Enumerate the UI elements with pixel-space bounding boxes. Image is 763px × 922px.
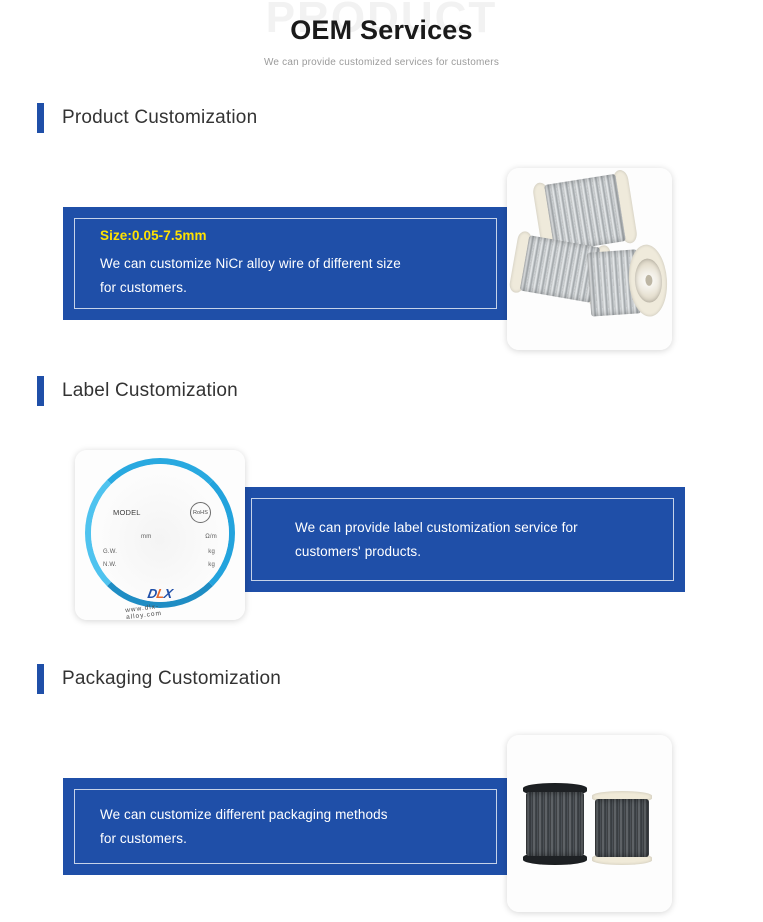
label-field-mm: mm [141, 534, 151, 540]
section-heading-packaging-customization: Packaging Customization [37, 664, 281, 694]
wire-spool-white-icon [592, 791, 652, 865]
round-product-label-photo: MODEL RoHS mm Ω/m G.W. N.W. kg kg DLX ww… [75, 450, 245, 620]
photo-stage [507, 168, 672, 350]
nicr-wire-spools-photo [507, 168, 672, 350]
panel-text-line-1: We can customize different packaging met… [100, 803, 471, 827]
label-field-website: www.dlx-alloy.com [125, 599, 195, 620]
wire-spool-black-icon [523, 783, 587, 865]
label-field-net-weight: N.W. [103, 562, 117, 568]
info-panel-packaging-customization: We can customize different packaging met… [63, 778, 508, 875]
info-panel-label-customization: We can provide label customization servi… [240, 487, 685, 592]
page-subtitle: We can provide customized services for c… [0, 57, 763, 68]
panel-text-line-2: for customers. [100, 827, 471, 851]
section-heading-label-customization: Label Customization [37, 376, 238, 406]
section-title: Packaging Customization [62, 668, 281, 690]
section-title: Product Customization [62, 107, 257, 129]
label-face: MODEL RoHS mm Ω/m G.W. N.W. kg kg DLX ww… [91, 464, 229, 602]
panel-text-line-1: We can provide label customization servi… [295, 516, 648, 540]
label-field-ohm: Ω/m [205, 534, 217, 540]
section-heading-product-customization: Product Customization [37, 103, 257, 133]
info-panel-inner: Size:0.05-7.5mm We can customize NiCr al… [74, 218, 497, 309]
photo-stage: MODEL RoHS mm Ω/m G.W. N.W. kg kg DLX ww… [75, 450, 245, 620]
label-field-model: MODEL [113, 508, 141, 517]
label-field-kg-2: kg [208, 562, 215, 568]
label-field-kg-1: kg [208, 549, 215, 555]
page-title: OEM Services [0, 14, 763, 46]
section-title: Label Customization [62, 380, 238, 402]
dlx-brand-logo: DLX [146, 586, 173, 601]
info-panel-inner: We can provide label customization servi… [251, 498, 674, 581]
packaging-spools-photo [507, 735, 672, 912]
panel-text-line-2: customers' products. [295, 540, 648, 564]
wire-spool-icon [587, 243, 670, 320]
panel-size-label: Size:0.05-7.5mm [100, 228, 471, 243]
section-accent-bar-icon [37, 376, 44, 406]
page-header: PRODUCT OEM Services We can provide cust… [0, 0, 763, 86]
photo-stage [507, 735, 672, 912]
section-accent-bar-icon [37, 664, 44, 694]
info-panel-inner: We can customize different packaging met… [74, 789, 497, 864]
panel-text-line-1: We can customize NiCr alloy wire of diff… [100, 252, 471, 276]
round-label-icon: MODEL RoHS mm Ω/m G.W. N.W. kg kg DLX ww… [85, 458, 235, 608]
label-field-gross-weight: G.W. [103, 549, 117, 555]
panel-text-line-2: for customers. [100, 276, 471, 300]
section-accent-bar-icon [37, 103, 44, 133]
brand-letter-x: X [163, 586, 174, 601]
rohs-badge-icon: RoHS [190, 502, 211, 523]
info-panel-product-customization: Size:0.05-7.5mm We can customize NiCr al… [63, 207, 508, 320]
